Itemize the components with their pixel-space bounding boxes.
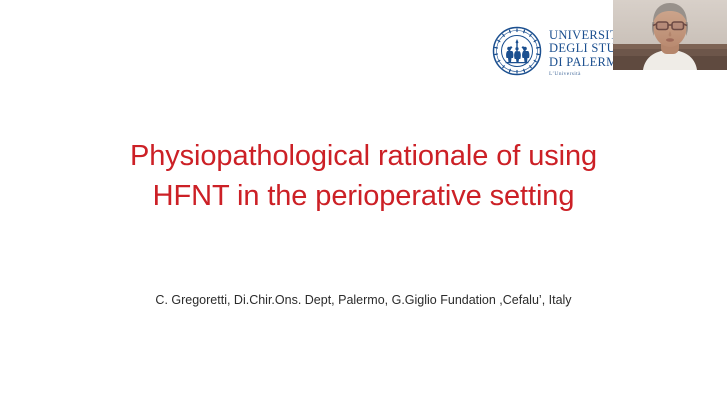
- author-affiliation: C. Gregoretti, Di.Chir.Ons. Dept, Palerm…: [60, 292, 667, 308]
- presentation-slide: UNIVERSITÀ DEGLI STUDI DI PALERMO L’Univ…: [0, 0, 727, 409]
- slide-title: Physiopathological rationale of using HF…: [60, 136, 667, 216]
- university-seal-icon: [492, 26, 542, 76]
- presenter-webcam-video[interactable]: [613, 0, 727, 70]
- logo-tagline: L’Università: [549, 72, 630, 78]
- title-line-1: Physiopathological rationale of using: [60, 136, 667, 176]
- university-logo: UNIVERSITÀ DEGLI STUDI DI PALERMO L’Univ…: [492, 26, 610, 82]
- title-line-2: HFNT in the perioperative setting: [60, 176, 667, 216]
